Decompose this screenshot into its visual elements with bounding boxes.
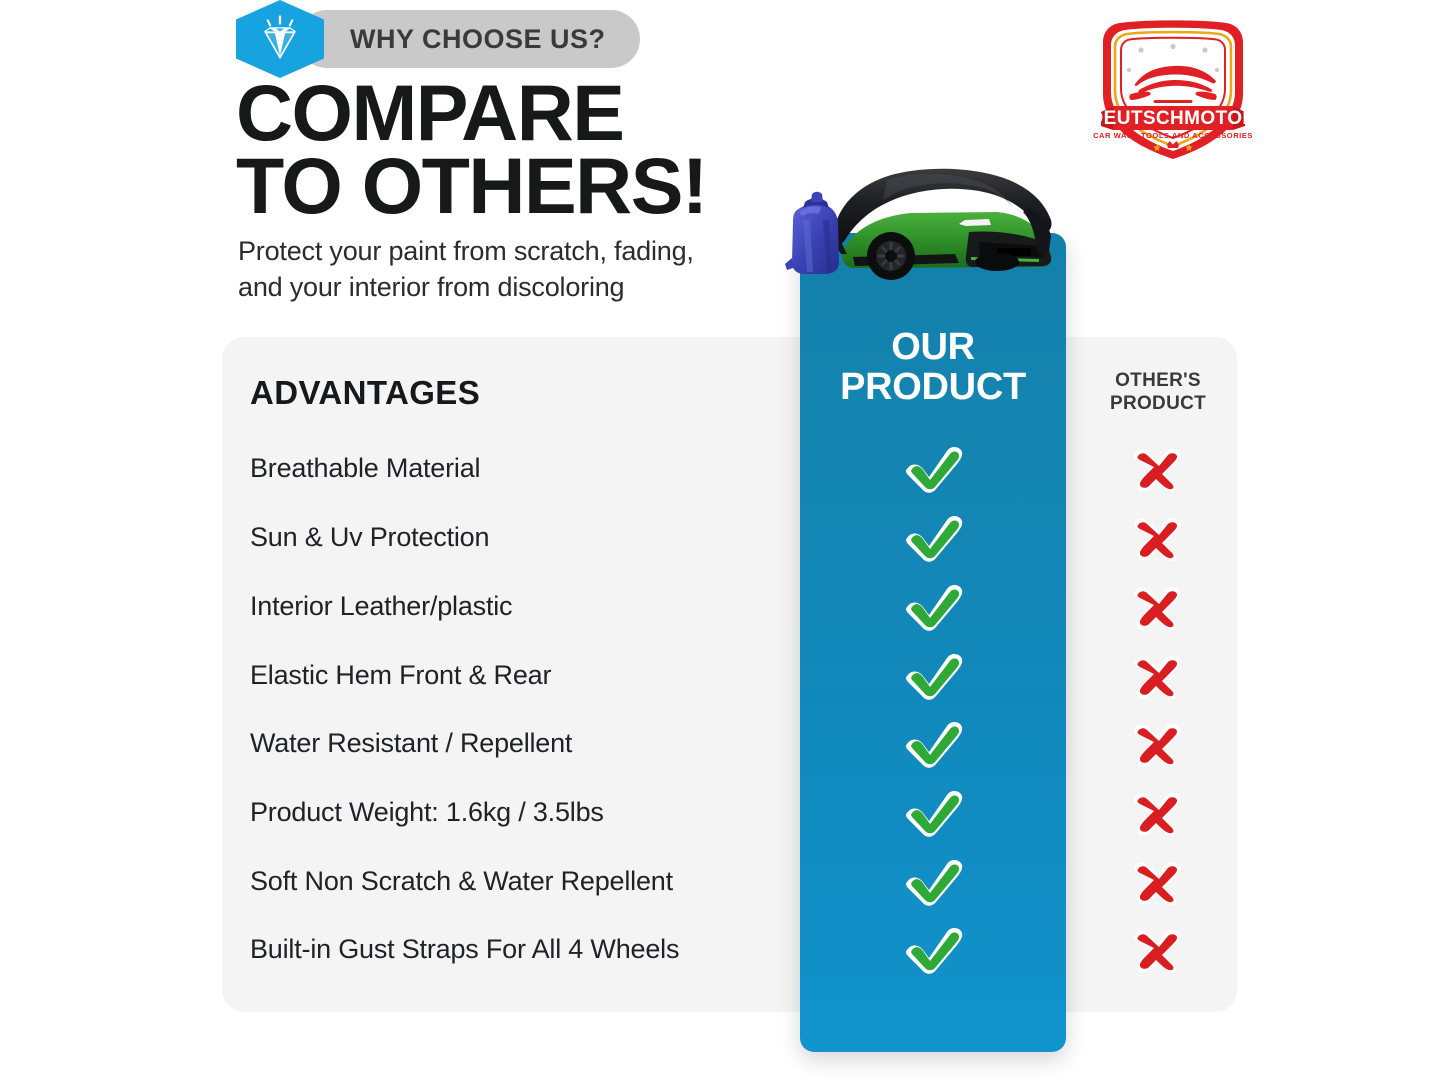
cross-icon (1129, 655, 1185, 699)
table-row: Breathable Material (0, 441, 1445, 495)
advantage-label: Interior Leather/plastic (250, 579, 512, 633)
check-icon (903, 443, 967, 493)
check-icon (903, 924, 967, 974)
check-icon (903, 512, 967, 562)
cross-icon (1129, 586, 1185, 630)
check-icon (903, 581, 967, 631)
advantage-label: Product Weight: 1.6kg / 3.5lbs (250, 785, 604, 839)
cross-icon (1129, 792, 1185, 836)
check-icon (903, 856, 967, 906)
cross-icon (1129, 448, 1185, 492)
advantage-label: Water Resistant / Repellent (250, 716, 572, 770)
cross-icon (1129, 929, 1185, 973)
cross-icon (1129, 861, 1185, 905)
check-icon (903, 650, 967, 700)
check-icon (903, 787, 967, 837)
advantage-label: Soft Non Scratch & Water Repellent (250, 854, 673, 908)
table-row: Sun & Uv Protection (0, 510, 1445, 564)
cross-icon (1129, 517, 1185, 561)
table-row: Water Resistant / Repellent (0, 716, 1445, 770)
advantage-label: Breathable Material (250, 441, 480, 495)
check-icon (903, 718, 967, 768)
table-row: Soft Non Scratch & Water Repellent (0, 854, 1445, 908)
comparison-rows: Breathable Material Sun & Uv Protection … (0, 0, 1445, 1084)
advantage-label: Built-in Gust Straps For All 4 Wheels (250, 922, 679, 976)
table-row: Built-in Gust Straps For All 4 Wheels (0, 922, 1445, 976)
cross-icon (1129, 723, 1185, 767)
infographic-canvas: WHY CHOOSE US? COMPARE TO OTHERS! Protec… (0, 0, 1445, 1084)
table-row: Interior Leather/plastic (0, 579, 1445, 633)
table-row: Elastic Hem Front & Rear (0, 648, 1445, 702)
advantage-label: Sun & Uv Protection (250, 510, 489, 564)
table-row: Product Weight: 1.6kg / 3.5lbs (0, 785, 1445, 839)
advantage-label: Elastic Hem Front & Rear (250, 648, 551, 702)
